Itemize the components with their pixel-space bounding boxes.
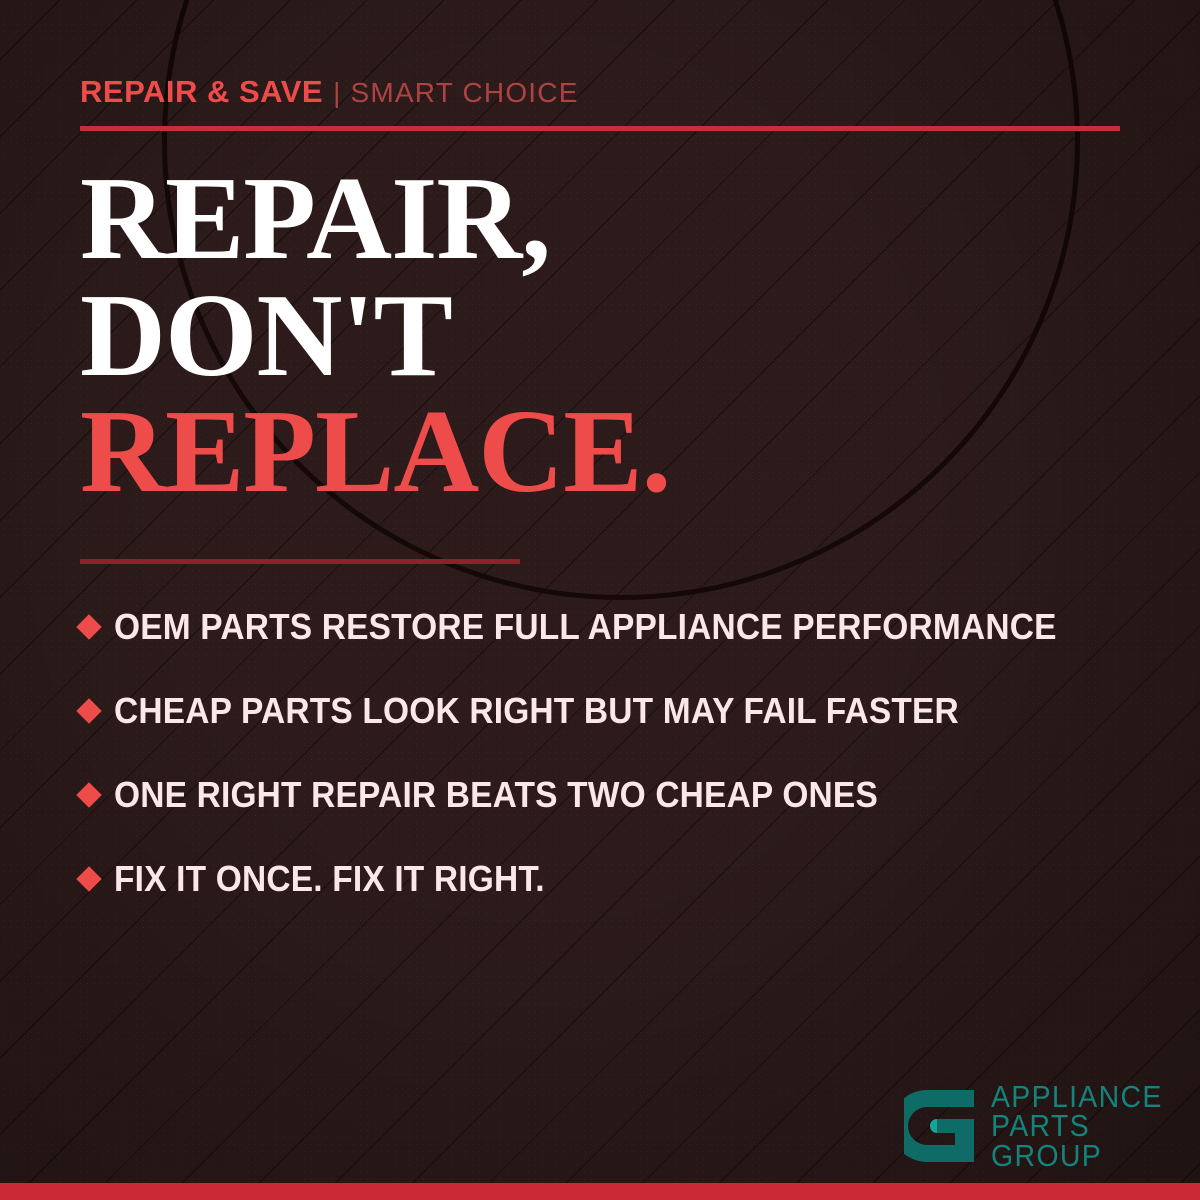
brand-word-parts: PARTS bbox=[991, 1111, 1163, 1140]
list-item-label: CHEAP PARTS LOOK RIGHT BUT MAY FAIL FAST… bbox=[114, 690, 959, 732]
eyebrow: REPAIR & SAVE | SMART CHOICE bbox=[80, 74, 579, 110]
benefit-list: OEM PARTS RESTORE FULL APPLIANCE PERFORM… bbox=[80, 585, 1160, 921]
brand-logo: APPLIANCE PARTS GROUP bbox=[904, 1082, 1178, 1170]
list-item-label: OEM PARTS RESTORE FULL APPLIANCE PERFORM… bbox=[114, 606, 1057, 648]
list-item: FIX IT ONCE. FIX IT RIGHT. bbox=[80, 837, 1160, 921]
diamond-icon bbox=[76, 614, 101, 639]
poster-canvas: REPAIR & SAVE | SMART CHOICE REPAIR, DON… bbox=[0, 0, 1200, 1200]
list-item-label: ONE RIGHT REPAIR BEATS TWO CHEAP ONES bbox=[114, 774, 878, 816]
diamond-icon bbox=[76, 782, 101, 807]
headline-line-3: REPLACE. bbox=[80, 393, 1140, 510]
poster-content: REPAIR & SAVE | SMART CHOICE REPAIR, DON… bbox=[0, 0, 1200, 1200]
brand-wordmark: APPLIANCE PARTS GROUP bbox=[991, 1082, 1178, 1170]
diamond-icon bbox=[76, 698, 101, 723]
list-item: ONE RIGHT REPAIR BEATS TWO CHEAP ONES bbox=[80, 753, 1160, 837]
diamond-icon bbox=[76, 866, 101, 891]
list-item-label: FIX IT ONCE. FIX IT RIGHT. bbox=[114, 858, 545, 900]
top-divider-rule bbox=[80, 126, 1120, 131]
mid-divider-rule bbox=[80, 559, 520, 564]
brand-word-group: GROUP bbox=[991, 1141, 1163, 1170]
g-monogram-icon bbox=[904, 1086, 978, 1166]
list-item: CHEAP PARTS LOOK RIGHT BUT MAY FAIL FAST… bbox=[80, 669, 1160, 753]
footer-accent-bar bbox=[0, 1183, 1200, 1200]
eyebrow-sub-label: | SMART CHOICE bbox=[333, 77, 579, 109]
headline-line-1: REPAIR, bbox=[80, 160, 1140, 277]
page-title: REPAIR, DON'T REPLACE. bbox=[80, 160, 1140, 510]
eyebrow-main-label: REPAIR & SAVE bbox=[80, 74, 323, 110]
list-item: OEM PARTS RESTORE FULL APPLIANCE PERFORM… bbox=[80, 585, 1160, 669]
headline-line-2: DON'T bbox=[80, 277, 1140, 394]
brand-word-appliance: APPLIANCE bbox=[991, 1082, 1163, 1111]
